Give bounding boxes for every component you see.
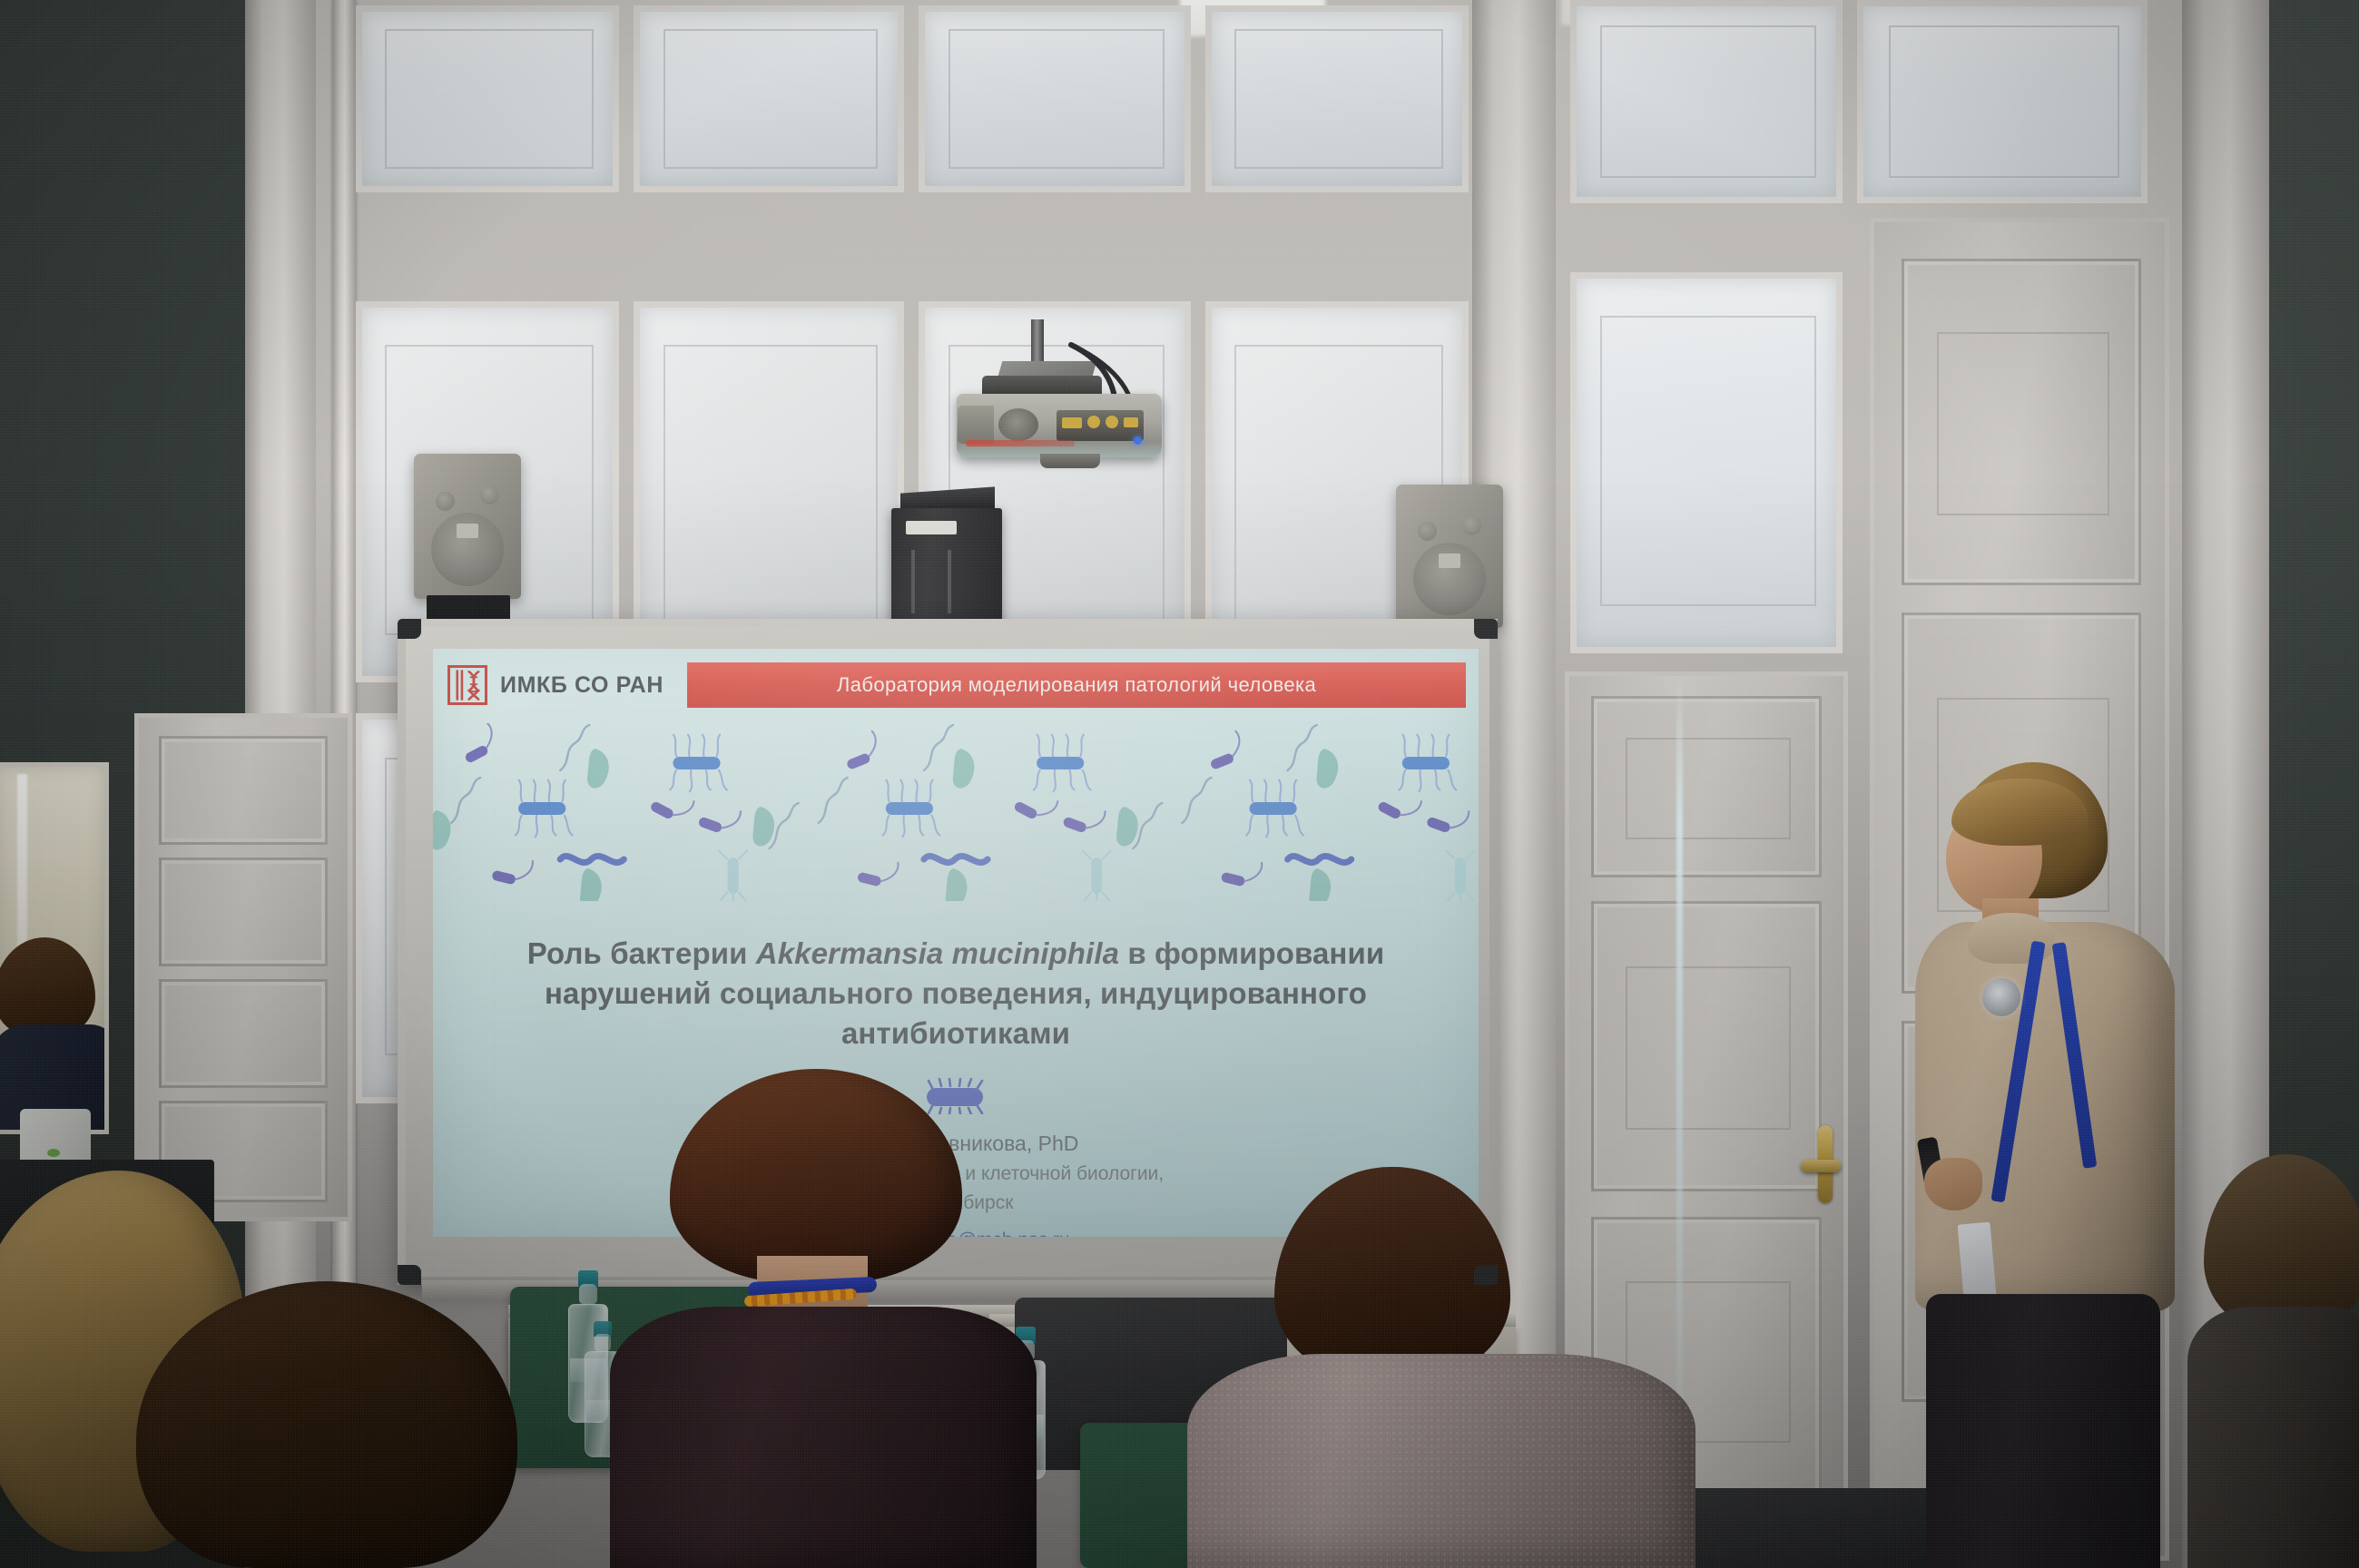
glass-pane-upper-6 <box>1857 0 2148 203</box>
audience-foreground-dark-hair <box>136 1281 517 1568</box>
presenter-badge-card <box>1957 1222 1996 1299</box>
slide-title-post: в формировании <box>1119 936 1384 970</box>
projector-vga-port <box>1062 417 1082 428</box>
speaker-tweeter-left-2 <box>480 485 499 505</box>
reflected-person-hair <box>0 937 95 1037</box>
door-lever-handle[interactable] <box>1801 1160 1841 1172</box>
presenter-hand <box>1924 1158 1982 1210</box>
left-panel-3 <box>159 979 328 1088</box>
presenter <box>1895 762 2204 1568</box>
lab-banner-text: Лаборатория моделирования патологий чело… <box>837 673 1316 697</box>
water-cooler-badge <box>47 1149 60 1157</box>
speaker-badge-left <box>457 524 478 538</box>
speaker-badge-right <box>1439 554 1460 568</box>
door-panel-middle <box>1591 901 1822 1191</box>
glass-pane-right-upper <box>1570 272 1843 653</box>
projector-bottom-foot <box>1040 454 1100 468</box>
projector-vent-grille <box>998 408 1038 441</box>
slide-title-pre: Роль бактерии <box>527 936 756 970</box>
door-panel-top <box>1591 696 1822 877</box>
ceiling-mounted-projector <box>935 325 1207 506</box>
projector-power-led <box>1134 436 1142 445</box>
glass-pane-upper-3 <box>919 5 1191 192</box>
column-speaker-slot-2 <box>948 550 951 613</box>
left-panel-1 <box>159 736 328 845</box>
column-speaker-slot-1 <box>911 550 915 613</box>
audience-member-foreground-dark <box>136 1281 517 1568</box>
presentation-photo-scene: ИМКБ СО РАН Лаборатория моделирования па… <box>0 0 2359 1568</box>
projector-port-panel <box>1057 410 1144 441</box>
audience-member-far-right <box>2187 1154 2359 1568</box>
bacteria-illustration-band <box>433 723 1479 901</box>
projector-rca-port-1 <box>1087 416 1100 428</box>
audience-right-sweater <box>1187 1354 1696 1568</box>
slide-title: Роль бактерии Akkermansia muciniphila в … <box>511 934 1401 1054</box>
projector-body <box>957 394 1162 457</box>
far-right-panel-1 <box>1902 259 2141 585</box>
audience-center-top <box>610 1307 1037 1568</box>
audience-far-right-top <box>2187 1307 2359 1568</box>
board-corner-top-right <box>1474 619 1498 639</box>
board-corner-bottom-left <box>398 1265 421 1285</box>
projector-lens-hood <box>958 406 994 444</box>
projector-hdmi-port <box>1124 417 1138 427</box>
slide-header: ИМКБ СО РАН Лаборатория моделирования па… <box>447 661 1466 709</box>
reflected-person-in-suit <box>0 937 92 1134</box>
presenter-skirt <box>1926 1294 2160 1568</box>
glass-pane-upper-4 <box>1205 5 1469 192</box>
dna-helix-icon <box>447 665 487 705</box>
audience-right-sweater-texture <box>1187 1354 1696 1568</box>
glass-pane-upper-1 <box>356 5 619 192</box>
lab-banner: Лаборатория моделирования патологий чело… <box>687 662 1466 708</box>
speaker-tweeter-left <box>436 492 455 511</box>
speaker-tweeter-right-2 <box>1462 516 1481 535</box>
paneled-wall-left <box>134 713 352 1221</box>
glass-pane-upper-5 <box>1570 0 1843 203</box>
presenter-necklace-pendant <box>1982 978 2020 1016</box>
board-corner-bottom-right <box>1474 1265 1498 1285</box>
presenter-fringe <box>1951 779 2088 846</box>
wall-speaker-right <box>1396 485 1503 628</box>
bottle-neck-extra <box>595 1334 611 1352</box>
audience-far-right-hair <box>2204 1154 2359 1332</box>
institute-abbrev-label: ИМКБ СО РАН <box>500 672 663 699</box>
projector-rca-port-2 <box>1106 416 1118 428</box>
audience-member-right <box>1187 1167 1696 1568</box>
projector-brand-stripe <box>966 440 1075 446</box>
left-panel-2 <box>159 857 328 966</box>
audience-member-center <box>610 1069 1037 1568</box>
speaker-tweeter-right <box>1418 522 1437 541</box>
audience-center-hair <box>670 1069 962 1283</box>
left-mirror-glass <box>0 762 109 1134</box>
wall-speaker-left <box>414 454 521 599</box>
glass-pane-upper-2 <box>634 5 904 192</box>
bottle-neck-left <box>579 1284 596 1304</box>
slide-title-line3: антибиотиками <box>511 1014 1401 1053</box>
slide-title-line2: нарушений социального поведения, индуцир… <box>511 974 1401 1014</box>
board-corner-top-left <box>398 619 421 639</box>
column-speaker <box>891 508 1002 624</box>
column-speaker-label <box>906 521 957 534</box>
presenter-turtleneck-top <box>1915 922 2175 1312</box>
slide-title-species: Akkermansia muciniphila <box>756 936 1119 970</box>
